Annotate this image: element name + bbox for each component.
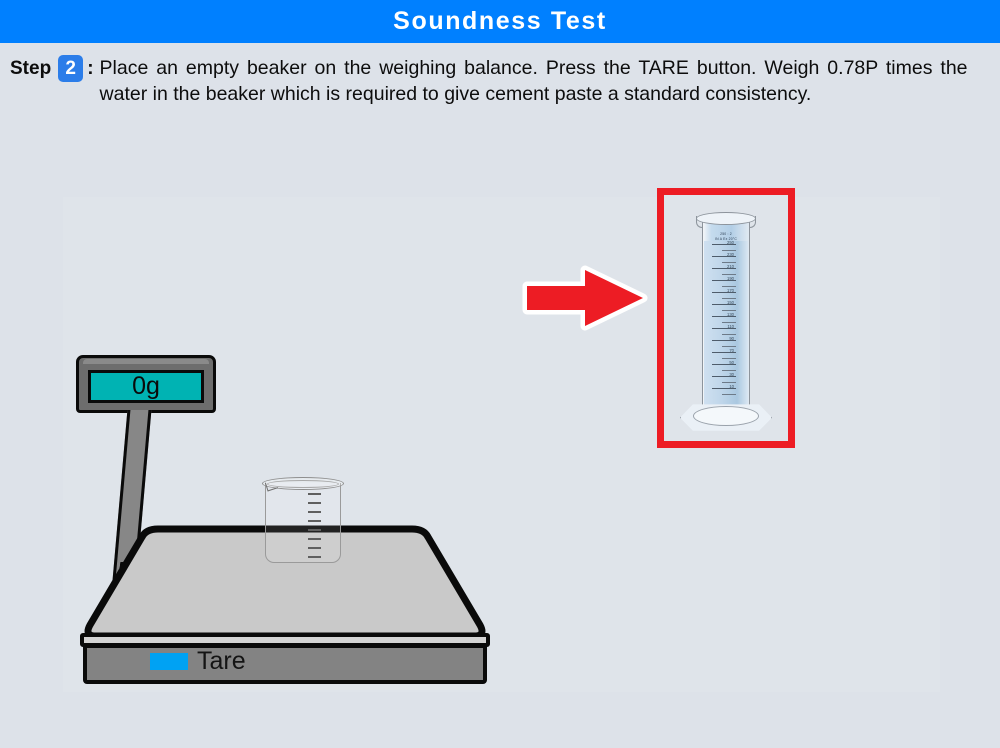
cylinder-scale-label: 250 [712, 241, 734, 245]
cylinder-scale-label: 210 [712, 265, 734, 269]
tare-control[interactable]: Tare [150, 649, 246, 674]
cylinder-scale-label: 230 [712, 253, 734, 257]
step-number-badge: 2 [58, 55, 83, 82]
cylinder-scale-label: 50 [712, 361, 734, 365]
instruction-row: Step 2 : Place an empty beaker on the we… [0, 43, 1000, 153]
step-word: Step [10, 58, 51, 80]
measuring-cylinder: 250 : 2 IN A Ex 20°C 250 230 210 190 170… [672, 204, 780, 436]
weighing-balance: 0g Tare [70, 350, 500, 690]
cylinder-scale-label: 70 [712, 349, 734, 353]
tare-button-led[interactable] [150, 653, 188, 670]
balance-display-head: 0g [76, 355, 216, 413]
cylinder-scale-label: 150 [712, 301, 734, 305]
cylinder-scale-label: 170 [712, 289, 734, 293]
page-title: Soundness Test [393, 7, 607, 36]
cylinder-scale-label: 190 [712, 277, 734, 281]
cylinder-scale: 250 230 210 190 170 150 130 110 90 [712, 244, 750, 404]
cylinder-base-ellipse [693, 406, 759, 426]
beaker [262, 475, 344, 570]
cylinder-scale-label: 90 [712, 337, 734, 341]
cylinder-scale-label: 110 [712, 325, 734, 329]
cylinder-scale-label: 10 [712, 385, 734, 389]
cylinder-print-label: 250 : 2 IN A Ex 20°C [705, 232, 747, 241]
tare-label: Tare [197, 649, 246, 674]
step-instruction-text: Place an empty beaker on the weighing ba… [100, 55, 984, 107]
measuring-cylinder-frame: 250 : 2 IN A Ex 20°C 250 230 210 190 170… [657, 188, 795, 448]
cylinder-top-rim [696, 212, 756, 225]
balance-body [83, 644, 487, 684]
display-head-highlight [83, 359, 209, 364]
cylinder-base [680, 398, 772, 434]
red-arrow-icon [521, 264, 649, 332]
cylinder-scale-label: 30 [712, 373, 734, 377]
step-label-group: Step 2 : [0, 55, 100, 82]
step-colon: : [87, 58, 93, 80]
beaker-graduations [308, 493, 330, 559]
balance-display-screen: 0g [88, 370, 204, 403]
weight-readout: 0g [132, 374, 160, 399]
app-header: Soundness Test [0, 0, 1000, 43]
cylinder-scale-label: 130 [712, 313, 734, 317]
